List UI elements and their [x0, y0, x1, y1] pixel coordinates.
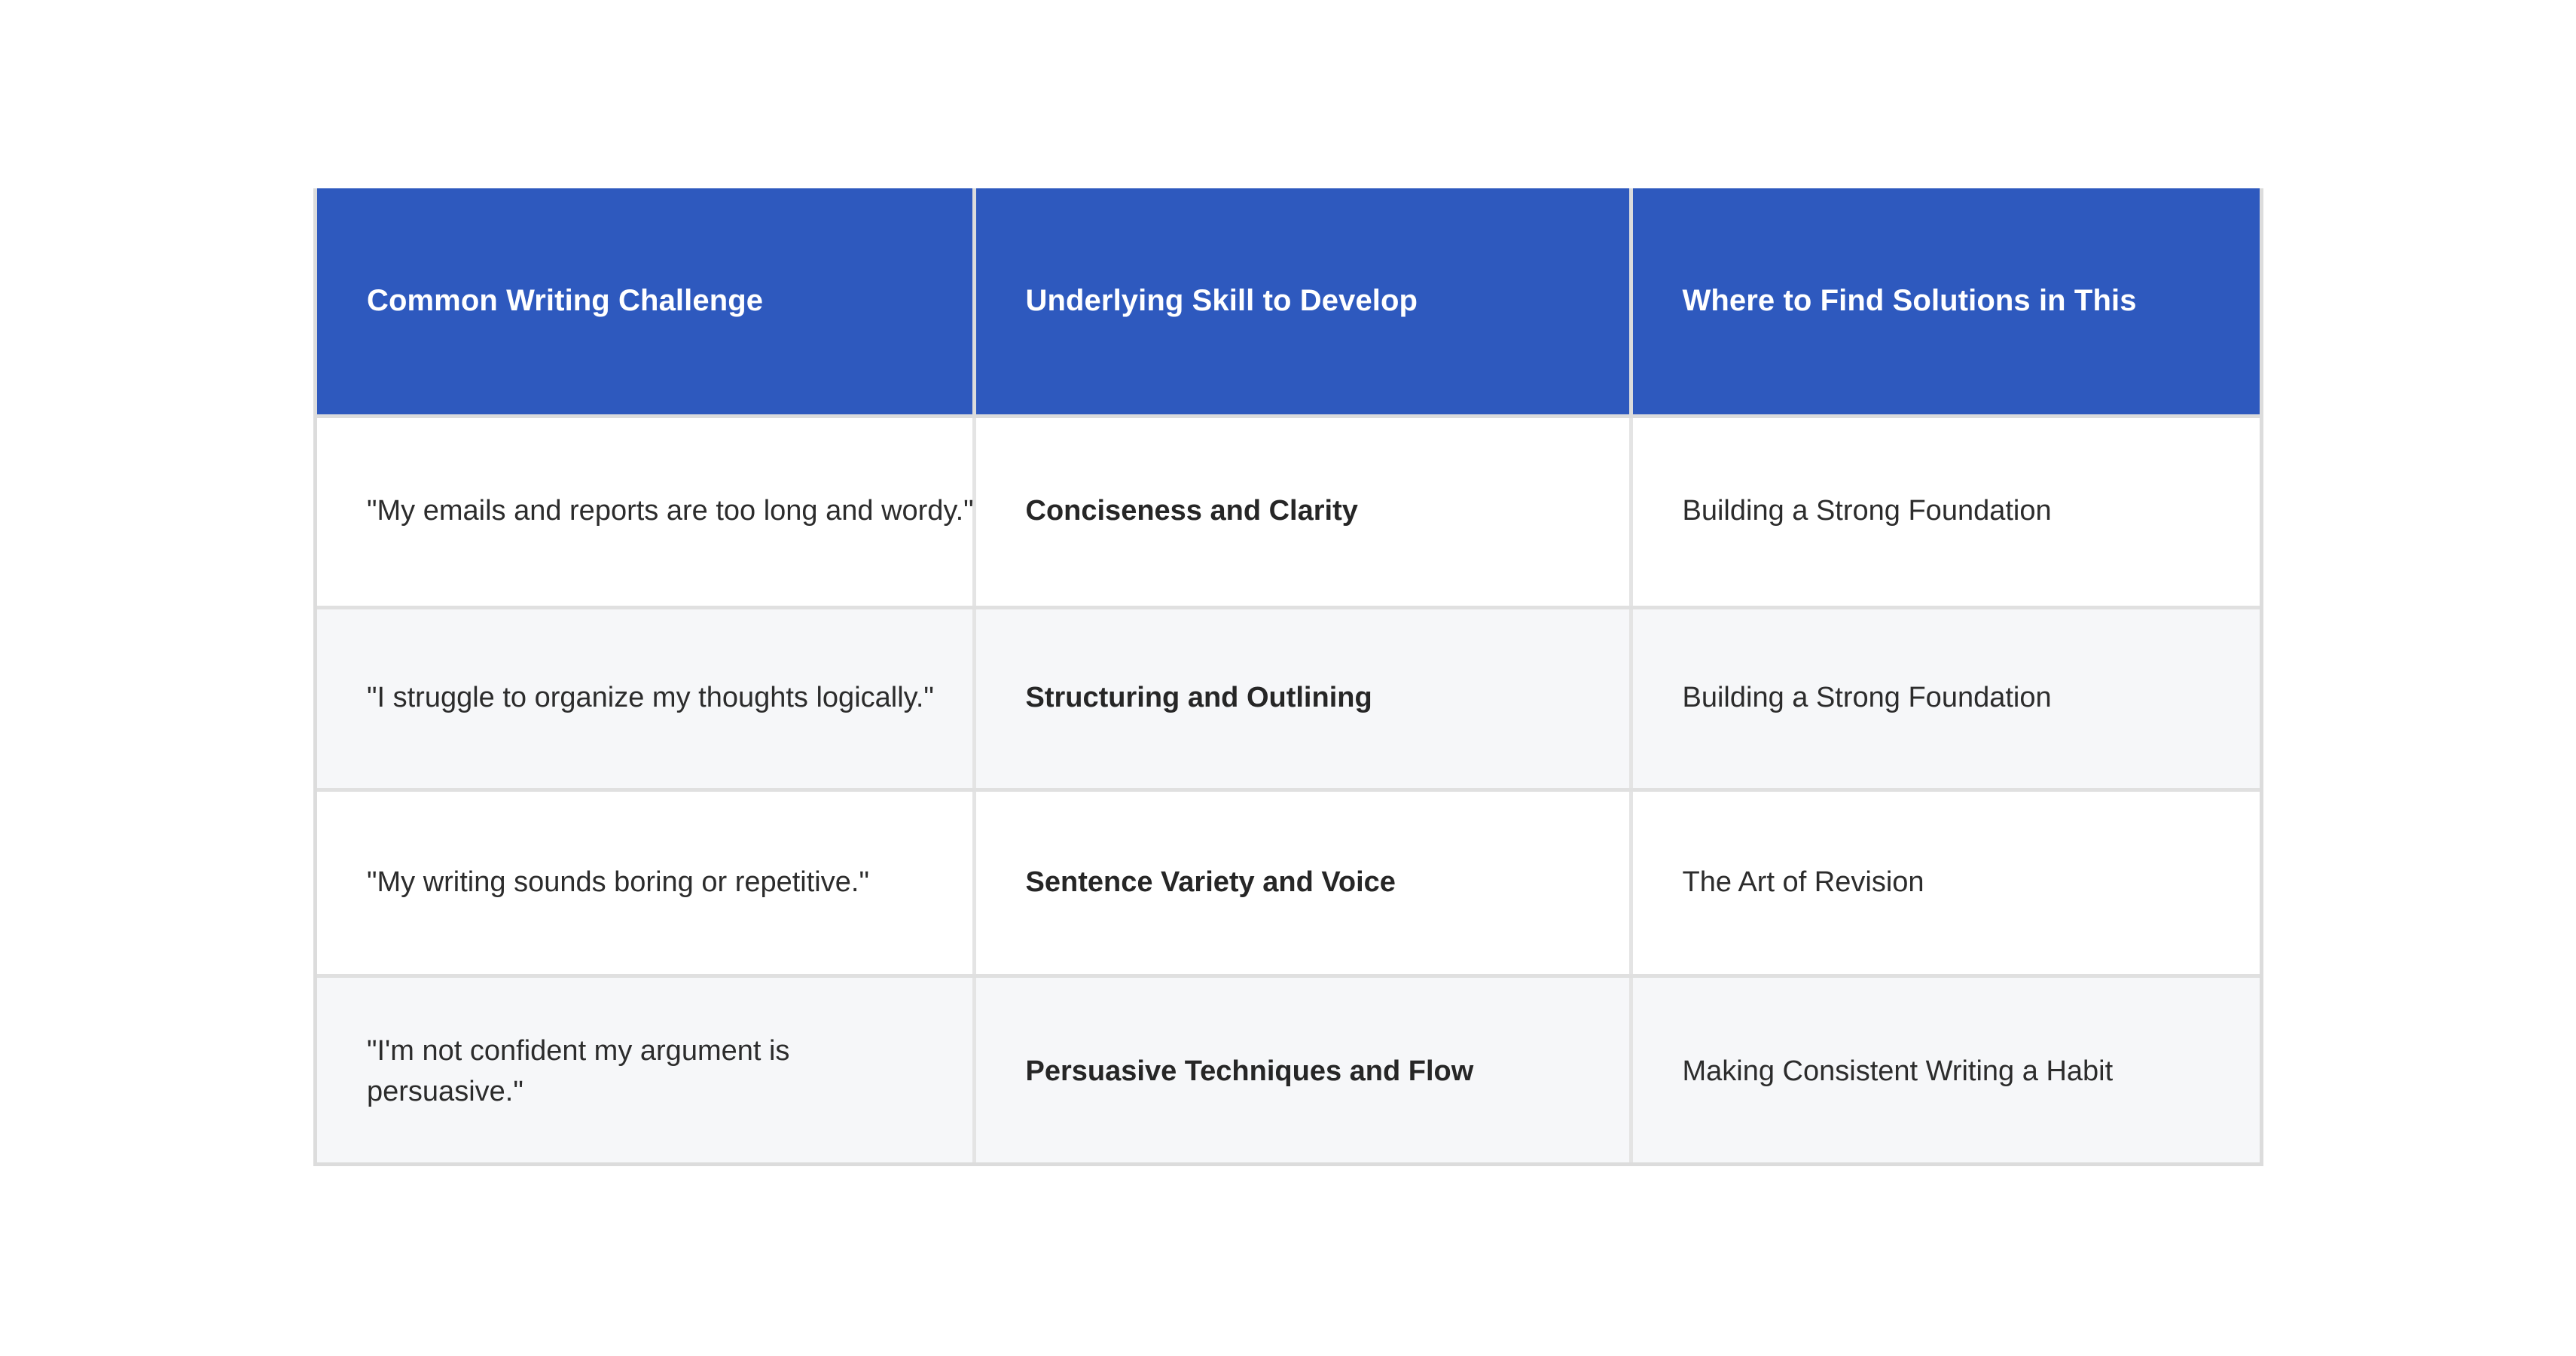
- cell-location: Building a Strong Foundation: [1631, 416, 2263, 607]
- cell-challenge-text: "I struggle to organize my thoughts logi…: [367, 678, 939, 719]
- cell-location: Making Consistent Writing a Habit: [1631, 976, 2263, 1166]
- cell-challenge: "I struggle to organize my thoughts logi…: [317, 607, 974, 789]
- table-header: Common Writing Challenge Underlying Skil…: [317, 188, 2263, 416]
- table-row: "My writing sounds boring or repetitive.…: [317, 789, 2263, 976]
- table-row: "I struggle to organize my thoughts logi…: [317, 607, 2263, 789]
- cell-skill-text: Sentence Variety and Voice: [1026, 866, 1396, 898]
- cell-location-text: The Art of Revision: [1683, 866, 1924, 898]
- column-header-challenge: Common Writing Challenge: [317, 188, 974, 416]
- table-row: "I'm not confident my argument is persua…: [317, 976, 2263, 1166]
- cell-location-text: Building a Strong Foundation: [1683, 682, 2052, 713]
- cell-challenge-text: "My writing sounds boring or repetitive.…: [367, 863, 939, 903]
- cell-challenge: "My emails and reports are too long and …: [317, 416, 974, 607]
- writing-challenges-table: Common Writing Challenge Underlying Skil…: [317, 188, 2263, 1166]
- cell-skill: Persuasive Techniques and Flow: [974, 976, 1631, 1166]
- cell-challenge-text: "My emails and reports are too long and …: [367, 491, 974, 532]
- cell-location: Building a Strong Foundation: [1631, 607, 2263, 789]
- table-row: "My emails and reports are too long and …: [317, 416, 2263, 607]
- cell-location-text: Making Consistent Writing a Habit: [1683, 1055, 2114, 1087]
- cell-location-text: Building a Strong Foundation: [1683, 495, 2052, 527]
- cell-skill-text: Structuring and Outlining: [1026, 682, 1372, 713]
- cell-location: The Art of Revision: [1631, 789, 2263, 976]
- cell-challenge: "I'm not confident my argument is persua…: [317, 976, 974, 1166]
- column-header-location: Where to Find Solutions in This: [1631, 188, 2263, 416]
- column-header-skill: Underlying Skill to Develop: [974, 188, 1631, 416]
- cell-skill: Structuring and Outlining: [974, 607, 1631, 789]
- cell-skill-text: Conciseness and Clarity: [1026, 495, 1358, 527]
- cell-skill-text: Persuasive Techniques and Flow: [1026, 1055, 1474, 1087]
- page-canvas: Common Writing Challenge Underlying Skil…: [0, 0, 2576, 1356]
- writing-challenges-table-container: Common Writing Challenge Underlying Skil…: [313, 188, 2263, 1166]
- cell-challenge: "My writing sounds boring or repetitive.…: [317, 789, 974, 976]
- cell-skill: Sentence Variety and Voice: [974, 789, 1631, 976]
- table-body: "My emails and reports are too long and …: [317, 416, 2263, 1166]
- table-header-row: Common Writing Challenge Underlying Skil…: [317, 188, 2263, 416]
- cell-skill: Conciseness and Clarity: [974, 416, 1631, 607]
- cell-challenge-text: "I'm not confident my argument is persua…: [367, 1031, 939, 1113]
